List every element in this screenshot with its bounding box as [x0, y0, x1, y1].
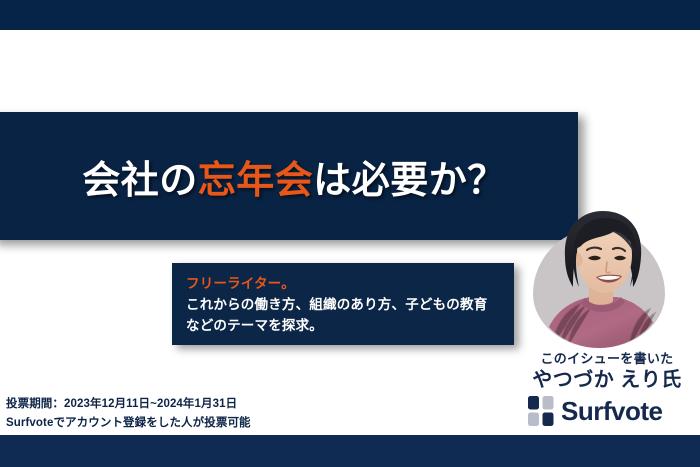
author-caption-label: このイシューを書いた: [519, 350, 695, 367]
surfvote-grid-icon: [528, 396, 554, 426]
title-banner: 会社の忘年会は必要か？: [0, 112, 578, 240]
voting-period: 投票期間：2023年12月11日~2024年1月31日: [6, 395, 251, 414]
title-highlight: 忘年会: [198, 160, 314, 202]
voting-eligibility: Surfvoteでアカウント登録をした人が投票可能: [6, 414, 251, 433]
surfvote-logo[interactable]: Surfvote: [528, 396, 662, 426]
author-description-line-1: これからの働き方、組織のあり方、子どもの教育: [186, 294, 514, 315]
author-name: やつづか えり氏: [519, 368, 695, 392]
author-portrait-illustration: [533, 205, 665, 348]
title-suffix: は必要か？: [313, 160, 506, 202]
author-description-box: フリーライター。 これからの働き方、組織のあり方、子どもの教育 などのテーマを探…: [172, 263, 514, 345]
voting-info: 投票期間：2023年12月11日~2024年1月31日 Surfvoteでアカウ…: [6, 395, 251, 433]
top-navy-bar: [0, 0, 700, 30]
title-prefix: 会社の: [82, 160, 198, 202]
page-title: 会社の忘年会は必要か？: [82, 149, 506, 204]
author-role: フリーライター。: [186, 273, 514, 294]
bottom-navy-bar: [0, 435, 700, 467]
author-caption-block: このイシューを書いた やつづか えり氏: [519, 350, 695, 392]
slide-canvas: 会社の忘年会は必要か？ フリーライター。 これからの働き方、組織のあり方、子ども…: [0, 0, 700, 467]
author-photo: [533, 205, 665, 348]
surfvote-wordmark: Surfvote: [561, 397, 662, 425]
author-description-line-2: などのテーマを探求。: [186, 315, 514, 336]
